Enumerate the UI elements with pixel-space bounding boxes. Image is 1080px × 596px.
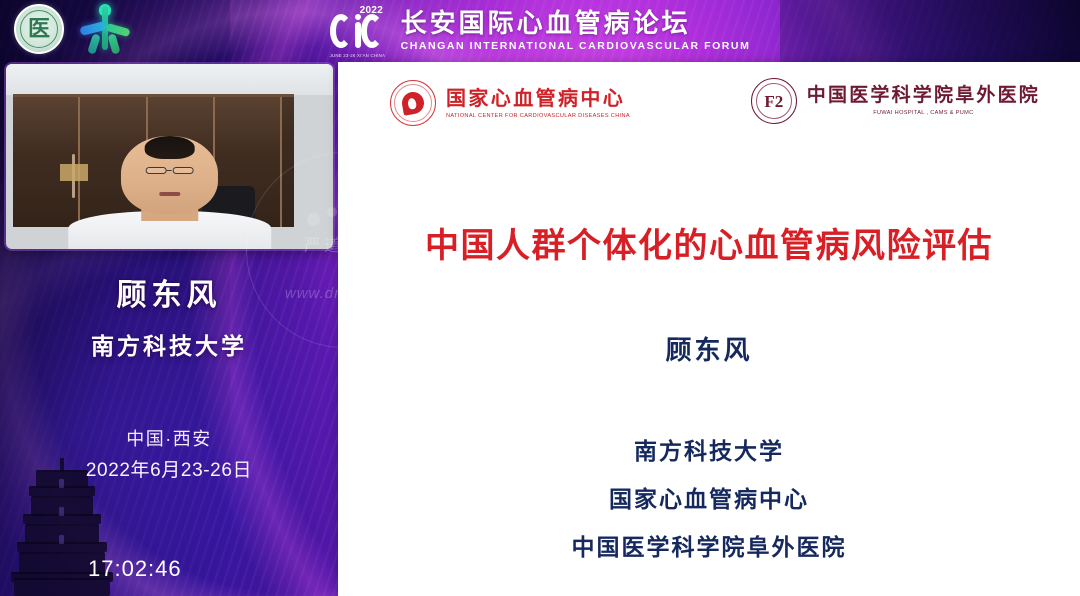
header-text: 长安国际心血管病论坛 CHANGAN INTERNATIONAL CARDIOV…: [401, 10, 751, 52]
broadcast-stage: 医 2022 JUNE 23-26 XI'AN CHINA 长安: [0, 0, 1080, 596]
person-mouth: [159, 192, 180, 196]
slide-affiliation-2: 国家心血管病中心: [338, 480, 1080, 514]
cic-letter-c1: [330, 14, 352, 48]
cic-sub-label: JUNE 23-26 XI'AN CHINA: [330, 53, 386, 58]
cic-letter-c2: [361, 14, 383, 48]
forum-title-en: CHANGAN INTERNATIONAL CARDIOVASCULAR FOR…: [401, 40, 751, 52]
fuwai-text: 中国医学科学院阜外医院 FUWAI HOSPITAL , CAMS & PUMC: [807, 86, 1040, 117]
fuwai-name-cn: 中国医学科学院阜外医院: [807, 86, 1040, 107]
event-header-banner: 医 2022 JUNE 23-26 XI'AN CHINA 长安: [0, 0, 1080, 62]
slide-title: 中国人群个体化的心血管病风险评估: [338, 218, 1080, 267]
header-title-block: 2022 JUNE 23-26 XI'AN CHINA 长安国际心血管病论坛 C…: [0, 0, 1080, 62]
fuwai-seal-icon: F2: [751, 78, 797, 124]
cic-logo-icon: 2022 JUNE 23-26 XI'AN CHINA: [330, 7, 388, 55]
person-face: [121, 136, 218, 214]
nccd-text: 国家心血管病中心 NATIONAL CENTER FOR CARDIOVASCU…: [446, 88, 630, 119]
pagoda-eave-1: [29, 488, 95, 496]
nccd-heart-icon: [400, 90, 425, 115]
cic-letter-i: [355, 22, 361, 48]
cic-year-label: 2022: [360, 5, 383, 16]
glasses-lens-left: [145, 167, 166, 174]
slide-affiliation-1: 南方科技大学: [338, 432, 1080, 466]
person-glasses-icon: [145, 167, 194, 174]
video-speaker-person: [68, 123, 271, 249]
fuwai-name-en: FUWAI HOSPITAL , CAMS & PUMC: [807, 110, 1040, 116]
fuwai-mark-glyph: F2: [764, 93, 783, 110]
nccd-seal-icon: [390, 80, 436, 126]
fuwai-logo: F2 中国医学科学院阜外医院 FUWAI HOSPITAL , CAMS & P…: [751, 78, 1040, 124]
sidebar-event-location: 中国·西安: [0, 425, 338, 451]
stream-timestamp: 17:02:46: [88, 556, 182, 582]
nccd-name-cn: 国家心血管病中心: [446, 88, 630, 110]
pagoda-eave-2: [23, 516, 101, 524]
glasses-lens-right: [172, 167, 193, 174]
nccd-name-en: NATIONAL CENTER FOR CARDIOVASCULAR DISEA…: [446, 113, 630, 119]
slide-logo-row: 国家心血管病中心 NATIONAL CENTER FOR CARDIOVASCU…: [338, 74, 1080, 130]
sidebar-event-date: 2022年6月23-26日: [0, 455, 338, 482]
glasses-bridge: [167, 170, 172, 172]
nccd-logo: 国家心血管病中心 NATIONAL CENTER FOR CARDIOVASCU…: [390, 80, 630, 126]
sidebar-speaker-name: 顾东风: [0, 270, 338, 314]
slide-affiliation-3: 中国医学科学院阜外医院: [338, 528, 1080, 562]
forum-title-cn: 长安国际心血管病论坛: [401, 10, 751, 37]
pagoda-eave-3: [17, 544, 107, 552]
person-hair: [144, 136, 195, 159]
sidebar-speaker-affiliation: 南方科技大学: [0, 327, 338, 361]
pagoda-window-3: [59, 535, 64, 544]
speaker-video-feed[interactable]: [6, 64, 333, 249]
presentation-slide[interactable]: 国家心血管病中心 NATIONAL CENTER FOR CARDIOVASCU…: [338, 62, 1080, 596]
pagoda-window-2: [59, 507, 64, 516]
pagoda-base: [14, 580, 110, 596]
video-ceiling: [6, 64, 333, 95]
slide-speaker-name: 顾东风: [338, 330, 1080, 367]
